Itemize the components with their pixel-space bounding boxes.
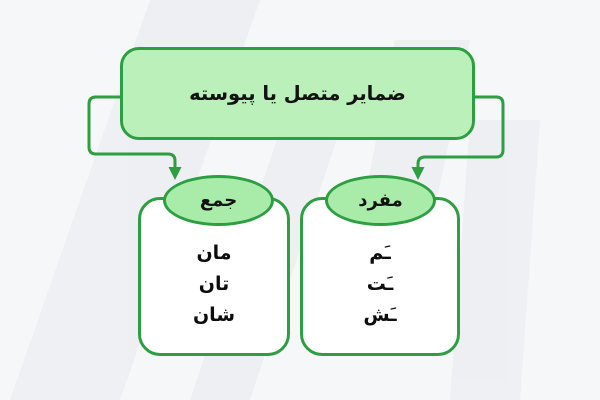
branch-label-singular: مفرد (358, 190, 403, 211)
branch-items-singular: ـَم ـَت ـَش (303, 244, 457, 325)
arrowhead-singular (412, 167, 425, 180)
page-title: ضمایر متصل یا پیوسته (189, 82, 406, 105)
branch-head-plural: جمع (163, 175, 274, 226)
branch-head-singular: مفرد (325, 175, 436, 226)
branch-items-plural: مان تان شان (141, 244, 287, 325)
list-item: ـَت (367, 275, 394, 294)
list-item: مان (196, 244, 231, 263)
diagram-canvas: ضمایر متصل یا پیوسته مان تان شان جمع ـَم… (0, 0, 600, 400)
list-item: ـَم (369, 244, 390, 263)
list-item: ـَش (363, 306, 396, 325)
arrowhead-plural (169, 167, 182, 180)
list-item: شان (193, 306, 235, 325)
root-node: ضمایر متصل یا پیوسته (120, 47, 475, 140)
branch-label-plural: جمع (200, 190, 237, 211)
list-item: تان (199, 275, 230, 294)
